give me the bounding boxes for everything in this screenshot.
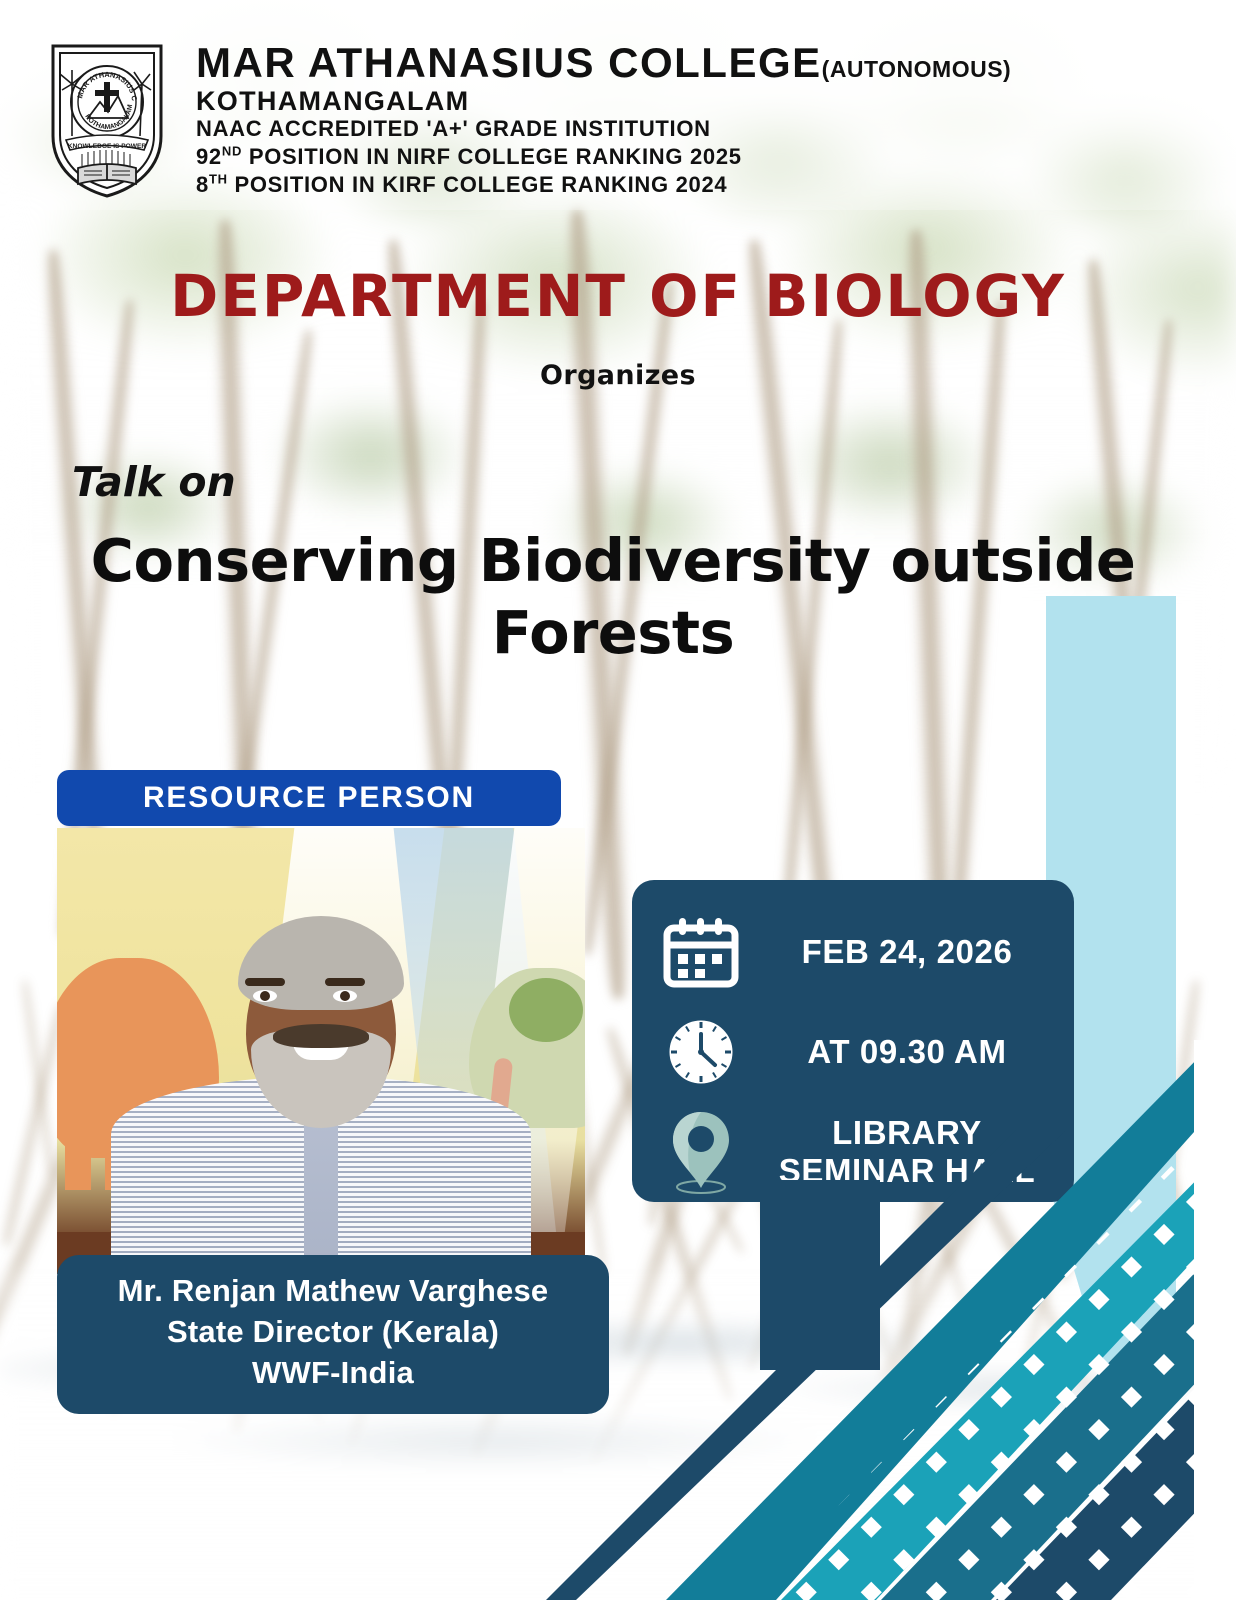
nirf-rank-text: POSITION IN NIRF COLLEGE RANKING 2025: [242, 144, 742, 169]
organizes-label: Organizes: [0, 360, 1236, 391]
college-crest-logo: MAR ATHANASIUS COLLEGE KOTHAMANGALAM KNO…: [48, 40, 166, 200]
nirf-rank-suffix: ND: [222, 144, 242, 159]
speaker-brow-left: [245, 978, 285, 986]
talk-on-label: Talk on: [72, 458, 236, 506]
college-place: KOTHAMANGALAM: [196, 88, 1196, 115]
speaker-brow-right: [325, 978, 365, 986]
speaker-name: Mr. Renjan Mathew Varghese: [77, 1271, 589, 1312]
corner-stripes-svg: [546, 1040, 1236, 1600]
college-identity-block: MAR ATHANASIUS COLLEGE(AUTONOMOUS) KOTHA…: [196, 42, 1196, 199]
crest-icon: MAR ATHANASIUS COLLEGE KOTHAMANGALAM KNO…: [48, 40, 166, 200]
resource-person-badge-label: RESOURCE PERSON: [143, 781, 475, 815]
speaker-figure: [111, 912, 531, 1274]
speaker-designation: State Director (Kerala): [77, 1312, 589, 1353]
college-nirf-rank: 92ND POSITION IN NIRF COLLEGE RANKING 20…: [196, 143, 1196, 171]
decorative-corner-stripes: [546, 1040, 1236, 1600]
speaker-photo: [57, 828, 585, 1274]
talk-title: Conserving Biodiversity outside Forests: [60, 525, 1166, 669]
event-date-row: FEB 24, 2026: [658, 902, 1048, 1002]
right-white-margin: [1194, 1040, 1236, 1600]
kirf-rank-suffix: TH: [209, 172, 228, 187]
speaker-moustache: [273, 1024, 369, 1048]
speaker-eye-left: [253, 990, 277, 1002]
event-poster: MAR ATHANASIUS COLLEGE KOTHAMANGALAM KNO…: [0, 0, 1236, 1600]
nirf-rank-number: 92: [196, 144, 222, 169]
stripe-navy-block: [760, 1180, 880, 1370]
speaker-eye-right: [333, 990, 357, 1002]
svg-text:KNOWLEDGE IS POWER: KNOWLEDGE IS POWER: [68, 143, 147, 150]
department-title: DEPARTMENT OF BIOLOGY: [0, 262, 1236, 330]
college-autonomous-tag: (AUTONOMOUS): [822, 56, 1012, 82]
speaker-name-card: Mr. Renjan Mathew Varghese State Directo…: [57, 1255, 609, 1414]
speaker-organisation: WWF-India: [77, 1353, 589, 1394]
college-name-text: MAR ATHANASIUS COLLEGE: [196, 39, 822, 86]
kirf-rank-text: POSITION IN KIRF COLLEGE RANKING 2024: [228, 172, 728, 197]
event-date: FEB 24, 2026: [766, 933, 1048, 971]
calendar-icon: [658, 915, 744, 989]
resource-person-badge: RESOURCE PERSON: [57, 770, 561, 826]
poster-header: MAR ATHANASIUS COLLEGE KOTHAMANGALAM KNO…: [0, 0, 1236, 210]
college-kirf-rank: 8TH POSITION IN KIRF COLLEGE RANKING 202…: [196, 171, 1196, 199]
kirf-rank-number: 8: [196, 172, 209, 197]
college-name: MAR ATHANASIUS COLLEGE(AUTONOMOUS): [196, 42, 1196, 84]
college-accreditation: NAAC ACCREDITED 'A+' GRADE INSTITUTION: [196, 115, 1196, 143]
